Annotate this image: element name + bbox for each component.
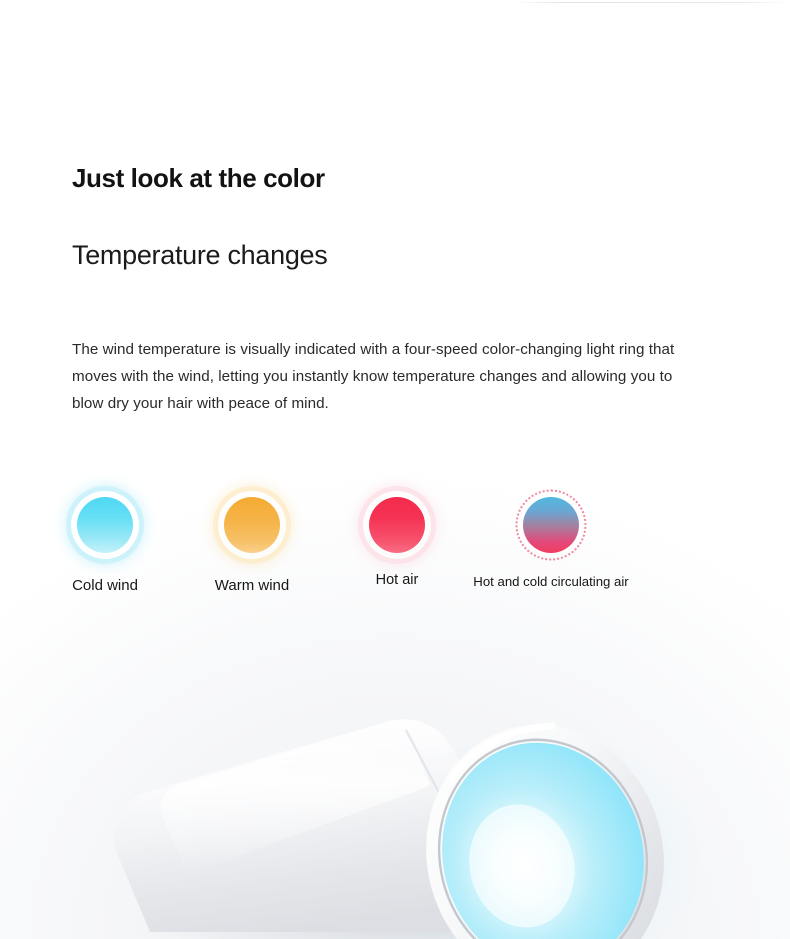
cold-wind-disc-wrap xyxy=(64,484,146,566)
image-seam-line xyxy=(512,2,790,3)
legend-item-cold-wind: Cold wind xyxy=(24,484,186,594)
hot-air-color-disc-icon xyxy=(369,497,425,553)
cold-wind-color-disc-icon xyxy=(77,497,133,553)
marketing-page: Just look at the color Temperature chang… xyxy=(0,0,790,939)
warm-wind-color-disc-icon xyxy=(224,497,280,553)
product-photo-hair-dryer xyxy=(0,660,790,939)
legend-label-hot-and-cold-circulating-air: Hot and cold circulating air xyxy=(461,574,641,589)
legend-label-warm-wind: Warm wind xyxy=(171,577,333,594)
warm-wind-disc-wrap xyxy=(211,484,293,566)
legend-label-hot-air: Hot air xyxy=(316,572,478,588)
legend-item-hot-air: Hot air xyxy=(316,484,478,588)
hot-air-disc-wrap xyxy=(356,484,438,566)
legend-item-warm-wind: Warm wind xyxy=(171,484,333,594)
hot-cold-circulating-disc-wrap xyxy=(510,484,592,566)
hot-cold-circulating-color-disc-icon xyxy=(523,497,579,553)
hair-dryer-illustration xyxy=(0,660,790,939)
color-legend: Cold wind Warm wind Hot air Hot and cold… xyxy=(0,484,790,614)
page-headline: Just look at the color xyxy=(72,163,325,194)
legend-item-hot-and-cold-circulating-air: Hot and cold circulating air xyxy=(461,484,641,589)
page-subheadline: Temperature changes xyxy=(72,240,327,271)
page-body-paragraph: The wind temperature is visually indicat… xyxy=(72,336,700,417)
legend-label-cold-wind: Cold wind xyxy=(24,577,186,594)
